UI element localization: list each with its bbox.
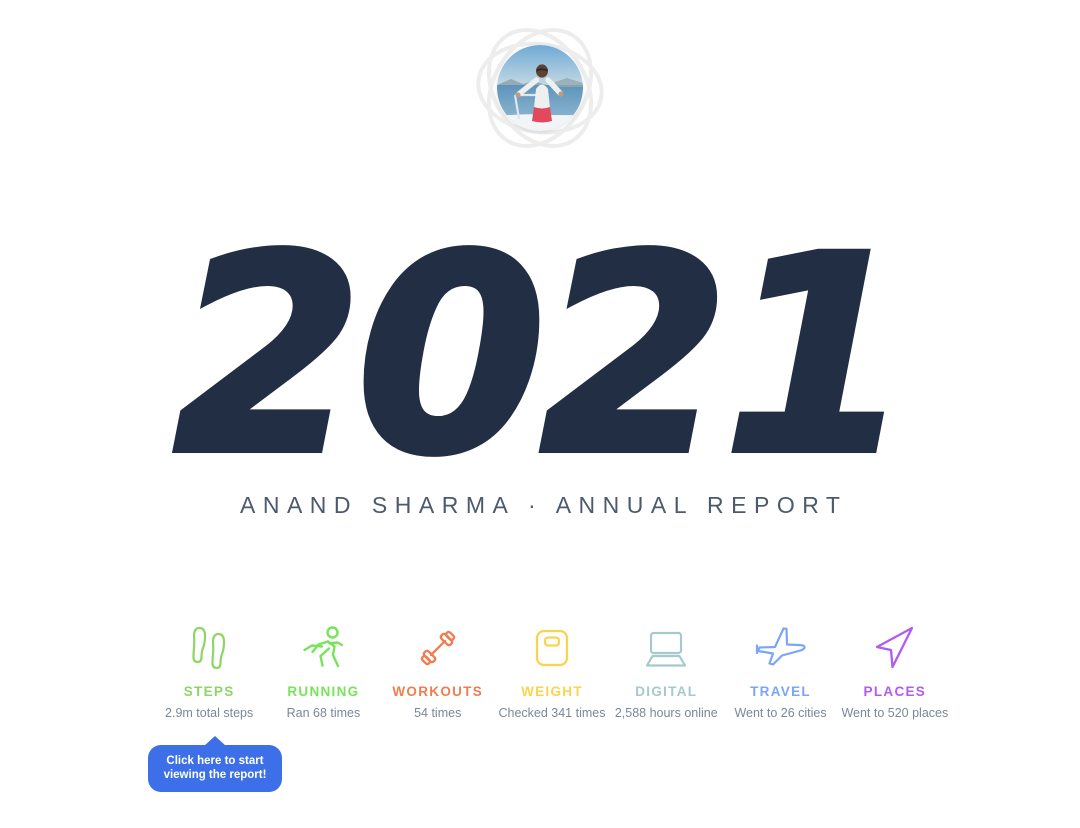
running-person-icon xyxy=(299,622,347,674)
stat-value-running: Ran 68 times xyxy=(287,706,361,720)
stat-value-steps: 2.9m total steps xyxy=(165,706,253,720)
stat-value-travel: Went to 26 cities xyxy=(734,706,826,720)
stat-item-steps[interactable]: STEPS 2.9m total steps xyxy=(152,622,266,720)
stat-value-weight: Checked 341 times xyxy=(498,706,605,720)
stat-item-weight[interactable]: WEIGHT Checked 341 times xyxy=(495,622,609,720)
tooltip-line-2: viewing the report! xyxy=(158,768,272,782)
stat-label-digital: DIGITAL xyxy=(635,684,697,699)
stat-value-digital: 2,588 hours online xyxy=(615,706,718,720)
start-report-tooltip[interactable]: Click here to start viewing the report! xyxy=(148,745,282,792)
avatar-photo[interactable] xyxy=(497,45,583,131)
stat-label-running: RUNNING xyxy=(287,684,359,699)
stat-item-digital[interactable]: DIGITAL 2,588 hours online xyxy=(609,622,723,720)
navigation-arrow-icon xyxy=(871,622,919,674)
stat-item-places[interactable]: PLACES Went to 520 places xyxy=(838,622,952,720)
stat-value-workouts: 54 times xyxy=(414,706,461,720)
airplane-icon xyxy=(754,622,808,674)
stat-label-workouts: WORKOUTS xyxy=(392,684,483,699)
stat-label-steps: STEPS xyxy=(184,684,235,699)
avatar[interactable] xyxy=(472,22,608,154)
page-subtitle: ANAND SHARMA · ANNUAL REPORT xyxy=(0,492,1080,519)
stat-label-travel: TRAVEL xyxy=(750,684,811,699)
laptop-icon xyxy=(642,622,690,674)
annual-report-page: 2021 ANAND SHARMA · ANNUAL REPORT STEPS … xyxy=(0,0,1080,828)
tooltip-line-1: Click here to start xyxy=(158,754,272,768)
stat-item-running[interactable]: RUNNING Ran 68 times xyxy=(266,622,380,720)
stat-item-workouts[interactable]: WORKOUTS 54 times xyxy=(381,622,495,720)
stats-row: STEPS 2.9m total steps RUNNING Ran 68 ti… xyxy=(152,622,952,720)
dumbbell-icon xyxy=(414,622,462,674)
stat-item-travel[interactable]: TRAVEL Went to 26 cities xyxy=(723,622,837,720)
stat-value-places: Went to 520 places xyxy=(841,706,948,720)
scale-icon xyxy=(531,622,573,674)
stat-label-places: PLACES xyxy=(864,684,927,699)
year-heading: 2021 xyxy=(0,232,1080,482)
footprints-icon xyxy=(188,622,230,674)
stat-label-weight: WEIGHT xyxy=(521,684,583,699)
